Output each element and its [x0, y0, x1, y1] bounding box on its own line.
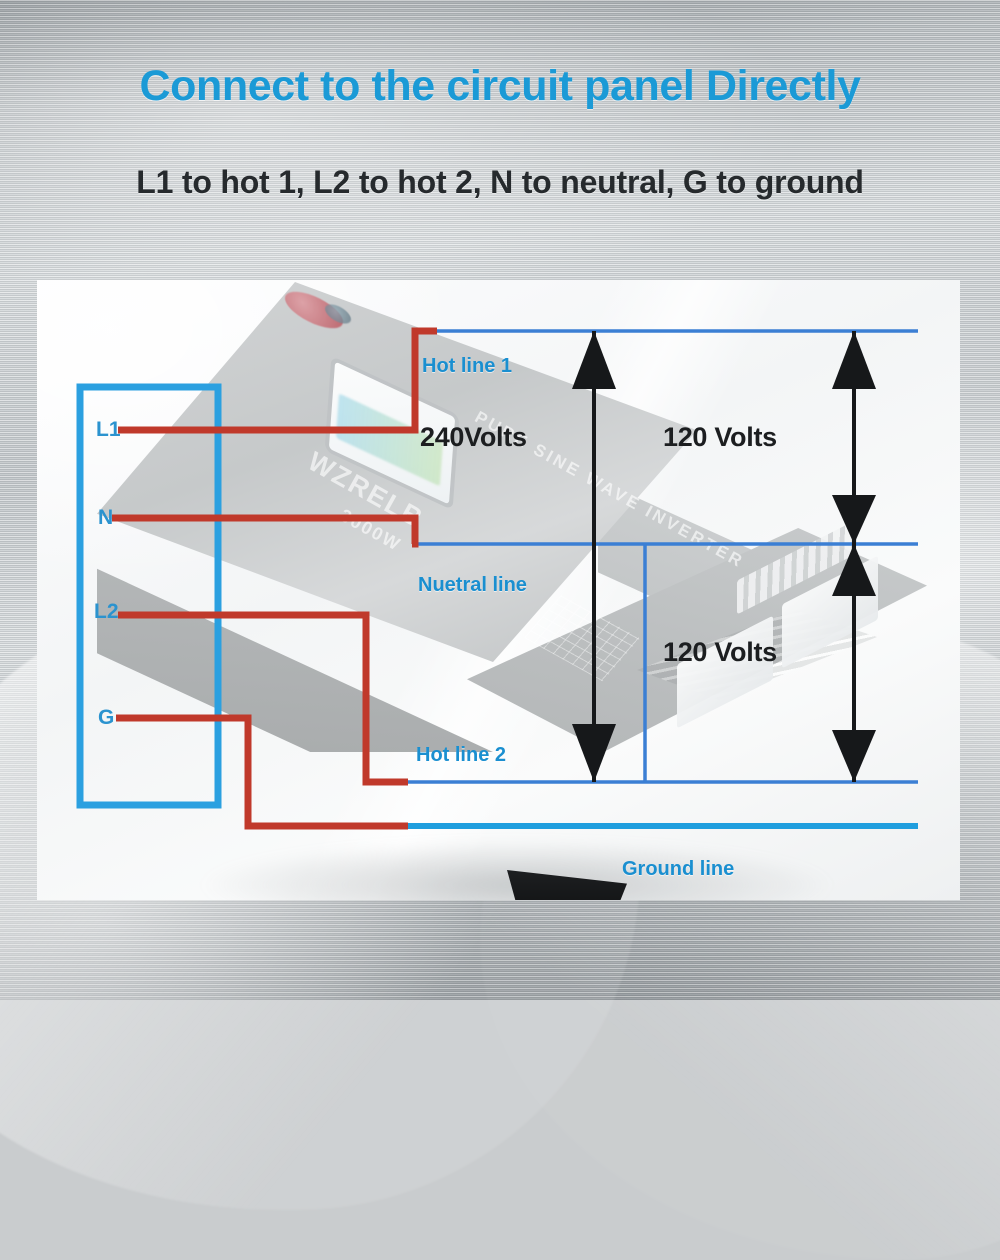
- terminal-label-l2: L2: [94, 600, 119, 624]
- wire-l1: [118, 331, 437, 430]
- bus-label-neutral-line: Nuetral line: [418, 574, 527, 597]
- voltage-label-120v-lower: 120 Volts: [663, 637, 777, 668]
- arrow-240v-head-up: [572, 331, 616, 389]
- terminal-label-n: N: [98, 506, 113, 530]
- arrow-120v-lower-head-down: [832, 730, 876, 782]
- wire-n: [112, 518, 415, 544]
- wire-l2: [118, 615, 408, 782]
- bus-label-hot-line-2: Hot line 2: [416, 744, 506, 767]
- wiring-svg: [0, 0, 1000, 1000]
- bus-label-hot-line-1: Hot line 1: [422, 355, 512, 378]
- arrow-120v-upper-head-down: [832, 495, 876, 544]
- arrow-120v-upper-head-up: [832, 331, 876, 389]
- terminal-label-g: G: [98, 706, 114, 730]
- arrow-120v-lower-head-up: [832, 544, 876, 596]
- arrow-240v-head-down: [572, 724, 616, 782]
- terminal-label-l1: L1: [96, 418, 121, 442]
- wiring-diagram-layer: [0, 0, 1000, 1000]
- breaker-panel-box: [80, 387, 218, 805]
- voltage-label-120v-upper: 120 Volts: [663, 422, 777, 453]
- voltage-label-240v: 240Volts: [420, 422, 527, 453]
- bus-label-ground-line: Ground line: [622, 858, 734, 881]
